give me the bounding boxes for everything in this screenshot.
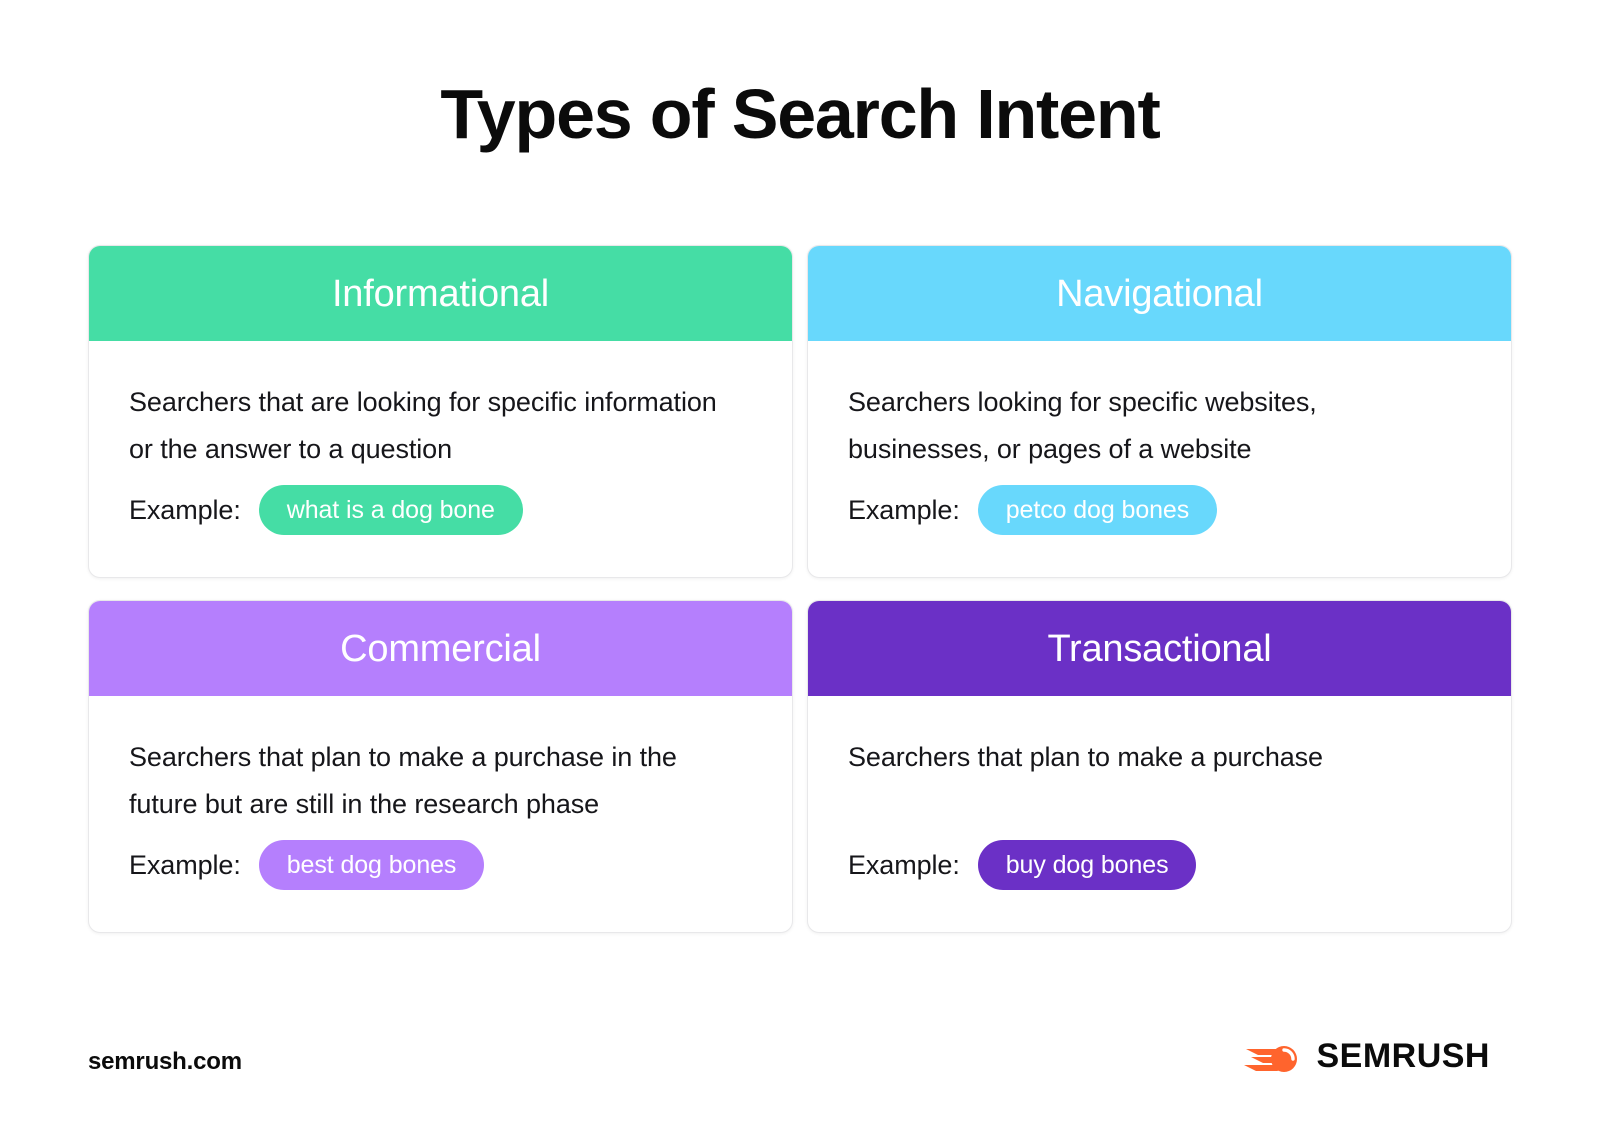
semrush-logo: SEMRUSH — [1244, 1036, 1490, 1076]
example-pill-navigational[interactable]: petco dog bones — [978, 485, 1217, 535]
example-label-commercial: Example: — [129, 849, 241, 881]
example-label-navigational: Example: — [848, 494, 960, 526]
page-title: Types of Search Intent — [0, 72, 1600, 156]
card-body-commercial: Searchers that plan to make a purchase i… — [89, 696, 792, 932]
card-body-informational: Searchers that are looking for specific … — [89, 341, 792, 577]
example-pill-informational[interactable]: what is a dog bone — [259, 485, 523, 535]
card-header-commercial: Commercial — [89, 601, 792, 696]
intent-card-informational: Informational Searchers that are looking… — [88, 245, 793, 578]
example-row-navigational: Example: petco dog bones — [848, 485, 1217, 535]
semrush-comet-icon — [1244, 1036, 1302, 1076]
intent-cards-grid: Informational Searchers that are looking… — [88, 245, 1496, 933]
card-body-transactional: Searchers that plan to make a purchase E… — [808, 696, 1511, 932]
card-description-transactional: Searchers that plan to make a purchase — [848, 734, 1448, 781]
card-description-commercial: Searchers that plan to make a purchase i… — [129, 734, 729, 828]
card-title-transactional: Transactional — [1047, 627, 1271, 671]
example-row-informational: Example: what is a dog bone — [129, 485, 523, 535]
card-body-navigational: Searchers looking for specific websites,… — [808, 341, 1511, 577]
card-title-commercial: Commercial — [340, 627, 541, 671]
card-title-informational: Informational — [332, 272, 549, 316]
example-pill-commercial[interactable]: best dog bones — [259, 840, 485, 890]
card-title-navigational: Navigational — [1056, 272, 1263, 316]
example-row-commercial: Example: best dog bones — [129, 840, 484, 890]
semrush-wordmark: SEMRUSH — [1316, 1037, 1490, 1075]
intent-card-navigational: Navigational Searchers looking for speci… — [807, 245, 1512, 578]
example-label-transactional: Example: — [848, 849, 960, 881]
example-pill-transactional[interactable]: buy dog bones — [978, 840, 1197, 890]
intent-card-transactional: Transactional Searchers that plan to mak… — [807, 600, 1512, 933]
example-row-transactional: Example: buy dog bones — [848, 840, 1196, 890]
card-description-informational: Searchers that are looking for specific … — [129, 379, 729, 473]
card-header-transactional: Transactional — [808, 601, 1511, 696]
infographic-page: Types of Search Intent Informational Sea… — [0, 0, 1600, 1128]
intent-card-commercial: Commercial Searchers that plan to make a… — [88, 600, 793, 933]
footer-site-label: semrush.com — [88, 1048, 242, 1076]
card-header-navigational: Navigational — [808, 246, 1511, 341]
card-description-navigational: Searchers looking for specific websites,… — [848, 379, 1448, 473]
card-header-informational: Informational — [89, 246, 792, 341]
example-label-informational: Example: — [129, 494, 241, 526]
footer: semrush.com SEMRUSH — [0, 1008, 1600, 1128]
